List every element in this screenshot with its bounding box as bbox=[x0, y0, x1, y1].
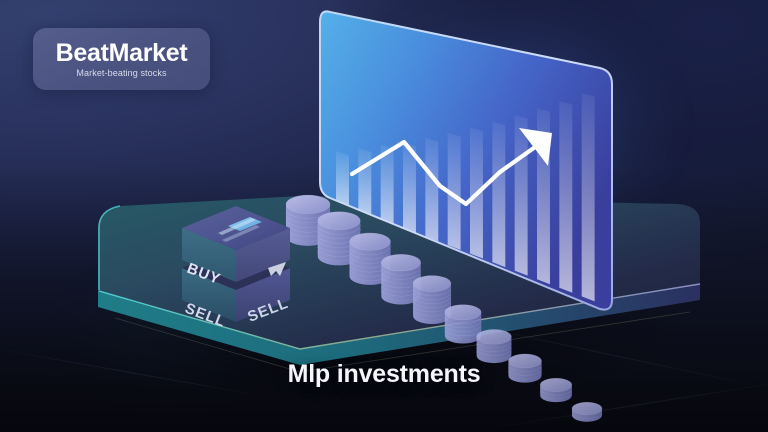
chart-bar bbox=[358, 148, 371, 216]
coin-stack bbox=[445, 305, 481, 344]
trade-block[interactable]: BUY SELL SELL bbox=[182, 206, 291, 331]
chart-bar bbox=[582, 93, 595, 301]
chart-bar bbox=[559, 101, 572, 293]
coin-stack bbox=[572, 402, 602, 421]
promo-banner: BUY SELL SELL BeatMarket Market-beating … bbox=[0, 0, 768, 432]
chart-bar bbox=[492, 122, 505, 267]
brand-logo[interactable]: BeatMarket Market-beating stocks bbox=[33, 28, 210, 90]
brand-tagline: Market-beating stocks bbox=[76, 69, 166, 78]
page-title: Mlp investments bbox=[0, 360, 768, 389]
coin-stack bbox=[477, 330, 512, 364]
chart-bar bbox=[515, 115, 528, 275]
chart-bar bbox=[425, 138, 438, 242]
chart-bar bbox=[336, 151, 349, 207]
brand-name: BeatMarket bbox=[56, 41, 188, 66]
